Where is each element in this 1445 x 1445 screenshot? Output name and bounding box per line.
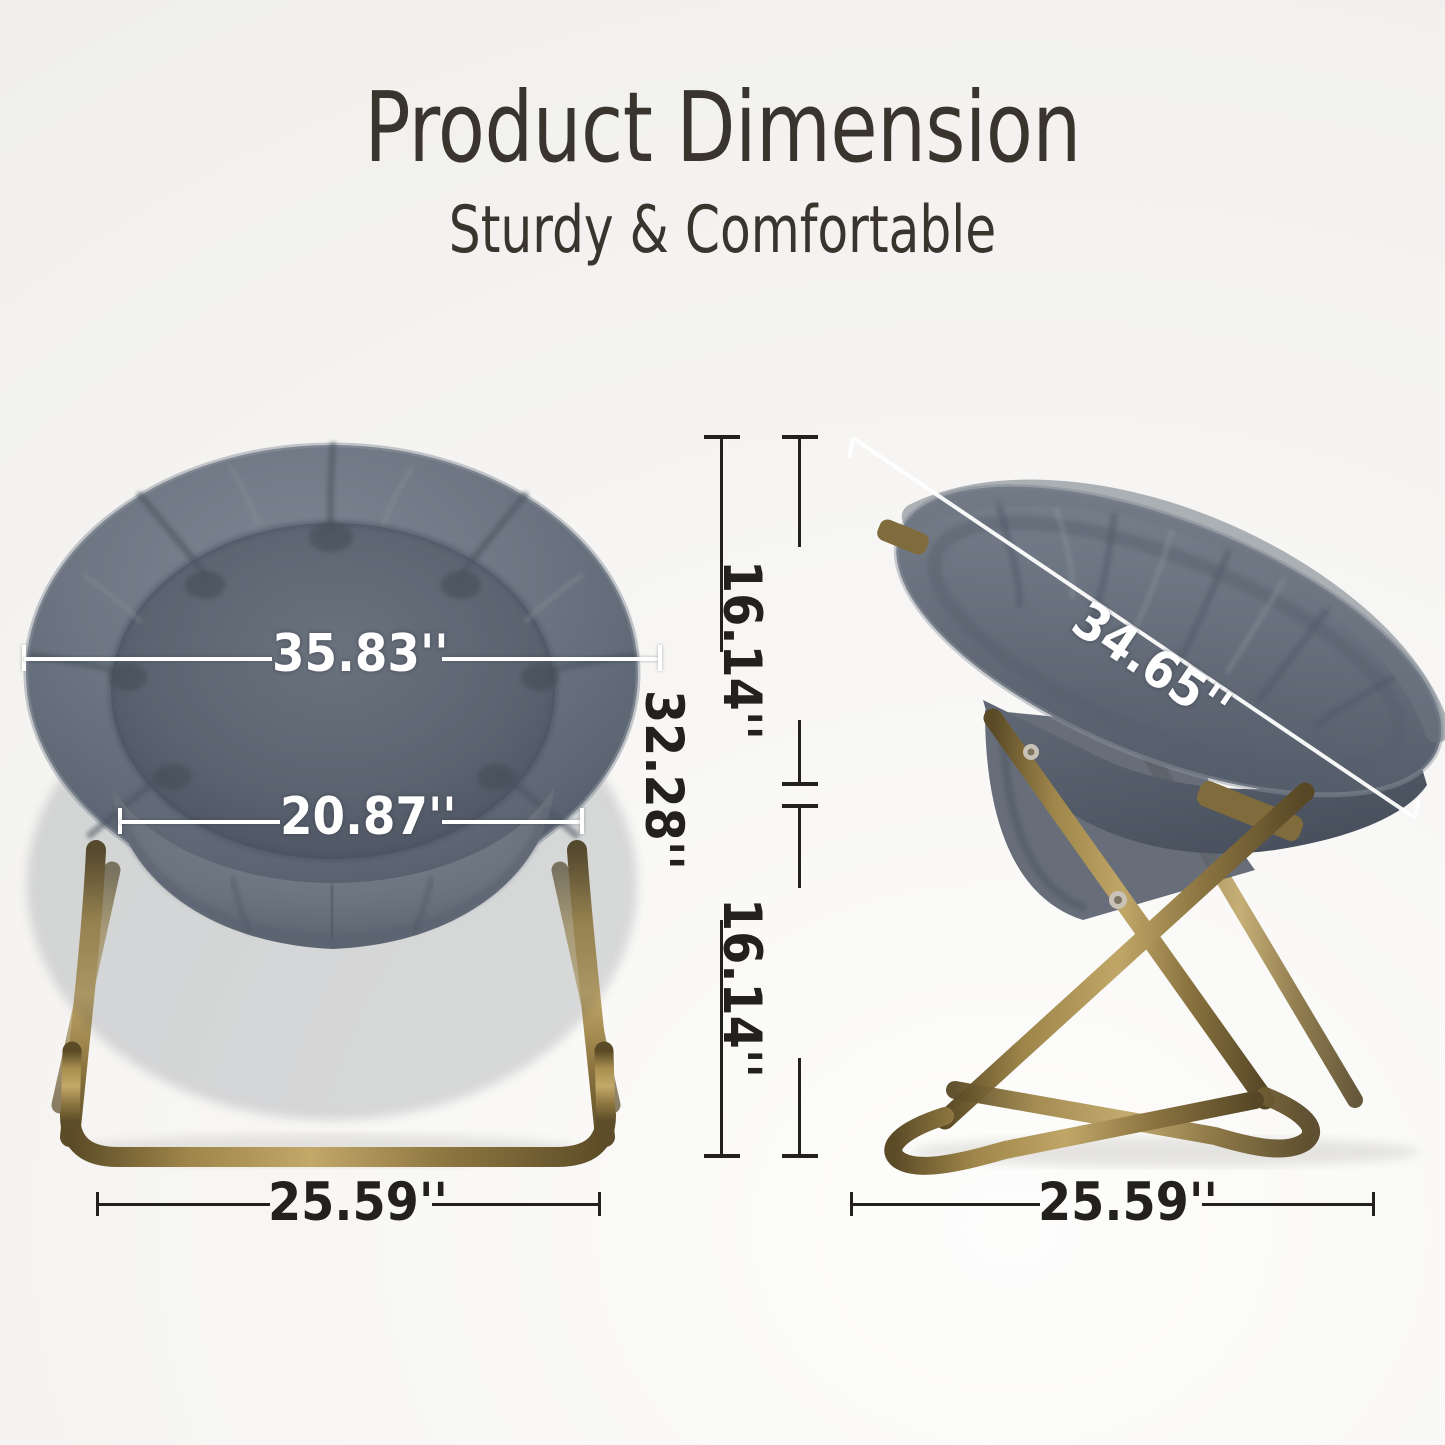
total-height-label: 32.28'' [633,690,694,870]
product-dimension-infographic: Product Dimension Sturdy & Comfortable [0,0,1445,1445]
side-base-depth-label: 25.59'' [1038,1172,1218,1233]
front-base-width-label: 25.59'' [268,1172,448,1233]
front-width-label: 35.83'' [272,624,449,684]
heading-block: Product Dimension Sturdy & Comfortable [0,78,1445,265]
lower-height-label: 16.14'' [711,898,772,1078]
upper-height-label: 16.14'' [711,560,772,740]
side-view-saucer-chair [835,400,1445,1175]
seat-width-label: 20.87'' [280,787,457,847]
page-subtitle: Sturdy & Comfortable [101,197,1344,265]
page-title: Product Dimension [87,78,1359,179]
